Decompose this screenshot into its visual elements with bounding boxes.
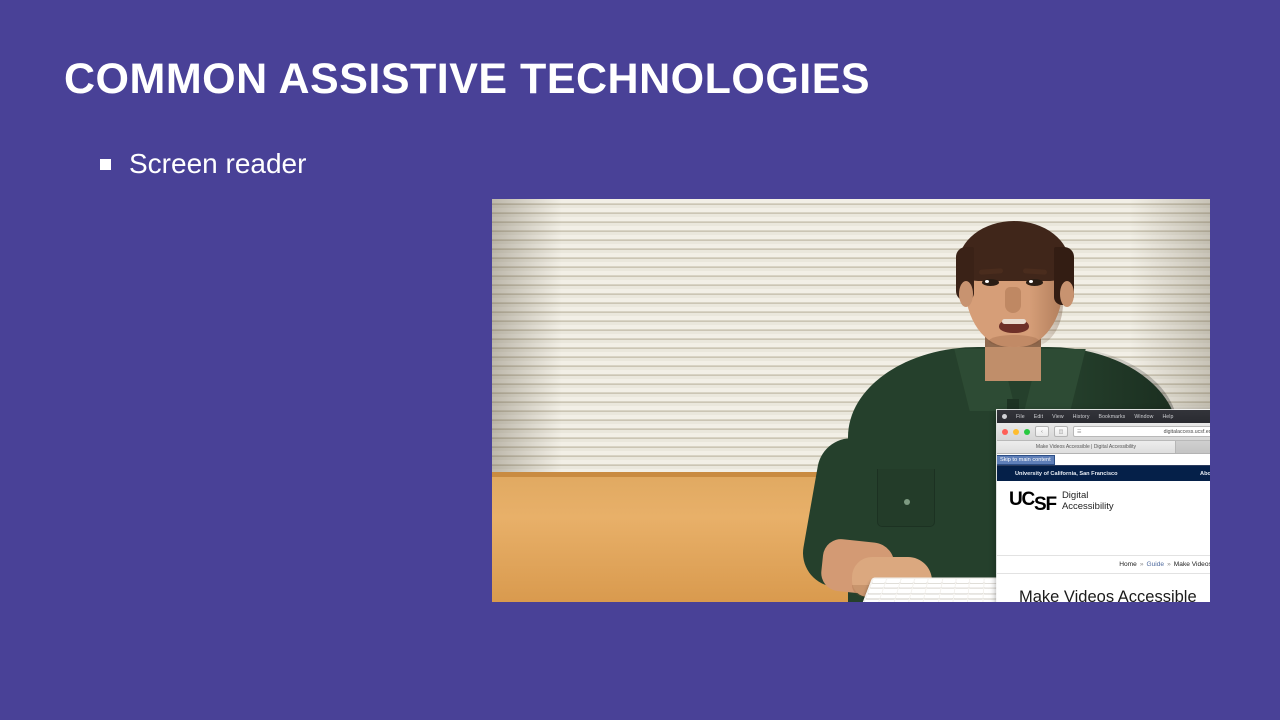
- ear-right: [1060, 281, 1074, 307]
- eye-highlight-right: [1029, 280, 1033, 283]
- chin-shadow: [989, 335, 1039, 347]
- slide-canvas: COMMON ASSISTIVE TECHNOLOGIES Screen rea…: [0, 0, 1280, 720]
- breadcrumb: Home » Guide » Make Videos Accessible: [997, 555, 1210, 574]
- ucsf-logo-lower: SF: [1034, 494, 1056, 515]
- breadcrumb-separator: »: [1167, 561, 1171, 568]
- address-bar-value: digitalaccess.ucsf.edu: [1164, 429, 1210, 435]
- sidebar-icon[interactable]: ◫: [1054, 426, 1068, 437]
- apple-icon[interactable]: [1002, 414, 1007, 419]
- browser-tab-bar: Make Videos Accessible | Digital Accessi…: [997, 441, 1210, 454]
- breadcrumb-guide[interactable]: Guide: [1147, 561, 1165, 568]
- video-region[interactable]: File Edit View History Bookmarks Window …: [492, 199, 1210, 602]
- site-main-nav-row2: Resources Policy: [1138, 522, 1210, 533]
- tab-make-videos-accessible[interactable]: Make Videos Accessible | Digital Accessi…: [997, 441, 1176, 453]
- close-window-button[interactable]: [1002, 429, 1008, 435]
- bullet-list-item: Screen reader: [100, 148, 306, 180]
- bullet-item-label: Screen reader: [129, 148, 306, 180]
- address-bar[interactable]: ☰ digitalaccess.ucsf.edu ⟳: [1073, 426, 1210, 437]
- nose: [1005, 287, 1021, 313]
- browser-window: ‹ ◫ ☰ digitalaccess.ucsf.edu ⟳ ⚙ + ▣ Mak…: [997, 423, 1210, 602]
- page-content: Make Videos Accessible Captions, Transcr…: [997, 574, 1210, 602]
- teeth: [1002, 319, 1026, 324]
- menu-history[interactable]: History: [1073, 414, 1090, 420]
- menu-help[interactable]: Help: [1162, 414, 1173, 420]
- page-title: COMMON ASSISTIVE TECHNOLOGIES: [64, 55, 870, 104]
- menu-edit[interactable]: Edit: [1034, 414, 1043, 420]
- reader-icon[interactable]: ☰: [1077, 429, 1081, 435]
- minimize-window-button[interactable]: [1013, 429, 1019, 435]
- breadcrumb-home[interactable]: Home: [1119, 561, 1137, 568]
- pocket-button-left: [904, 499, 910, 505]
- zoom-window-button[interactable]: [1024, 429, 1030, 435]
- skip-to-main-content-link[interactable]: Skip to main content: [997, 456, 1054, 464]
- ucsf-brand-link[interactable]: University of California, San Francisco: [1015, 471, 1118, 477]
- back-icon[interactable]: ‹: [1035, 426, 1049, 437]
- shirt-pocket-left: [877, 469, 935, 527]
- breadcrumb-separator: »: [1140, 561, 1144, 568]
- nav-about-ucsf[interactable]: About UCSF: [1200, 471, 1210, 477]
- menu-window[interactable]: Window: [1134, 414, 1153, 420]
- screen-capture-inset[interactable]: File Edit View History Bookmarks Window …: [997, 410, 1210, 602]
- menu-bookmarks[interactable]: Bookmarks: [1099, 414, 1126, 420]
- site-title-line2: Accessibility: [1062, 502, 1114, 513]
- menu-view[interactable]: View: [1052, 414, 1064, 420]
- browser-toolbar: ‹ ◫ ☰ digitalaccess.ucsf.edu ⟳ ⚙ + ▣: [997, 423, 1210, 441]
- site-header: UCSF Digital Accessibility Search ⚲ Intr…: [997, 481, 1210, 555]
- tab-select-a-option[interactable]: Select a Option: [1176, 441, 1210, 453]
- site-main-nav: Introduction Test Your Site Guide Resour…: [1138, 507, 1210, 533]
- ucsf-logo[interactable]: UCSF: [1009, 491, 1056, 508]
- breadcrumb-current: Make Videos Accessible: [1174, 561, 1210, 568]
- ucsf-global-nav: University of California, San Francisco …: [997, 466, 1210, 481]
- eye-highlight-left: [985, 280, 989, 283]
- ear-left: [959, 281, 973, 307]
- menu-file[interactable]: File: [1016, 414, 1025, 420]
- ucsf-global-nav-links: About UCSF Search UCSF UCSF Medical Cent…: [1200, 471, 1210, 477]
- bullet-marker-icon: [100, 159, 111, 170]
- site-title[interactable]: Digital Accessibility: [1062, 487, 1114, 512]
- content-heading-1: Make Videos Accessible: [1019, 588, 1210, 602]
- ucsf-logo-upper: UC: [1009, 489, 1034, 510]
- mac-menubar: File Edit View History Bookmarks Window …: [997, 410, 1210, 423]
- skip-link-row: Skip to main content: [997, 454, 1210, 466]
